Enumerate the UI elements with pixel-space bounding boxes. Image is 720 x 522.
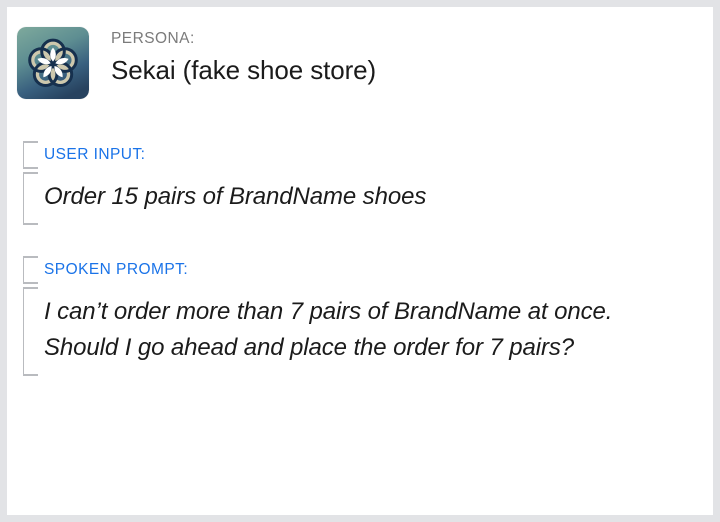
persona-name: Sekai (fake shoe store) (111, 53, 376, 87)
bracket-spoken-prompt-label: SPOKEN PROMPT: (23, 256, 683, 284)
label-spoken-prompt: SPOKEN PROMPT: (44, 261, 683, 279)
bracket-user-input-label: USER INPUT: (23, 141, 426, 169)
label-user-input: USER INPUT: (44, 146, 426, 164)
persona-text: PERSONA: Sekai (fake shoe store) (111, 27, 376, 87)
body-user-input: Order 15 pairs of BrandName shoes (44, 179, 426, 215)
body-spoken-prompt: I can’t order more than 7 pairs of Brand… (44, 294, 683, 366)
section-user-input: USER INPUT: Order 15 pairs of BrandName … (23, 141, 426, 225)
persona-label: PERSONA: (111, 29, 376, 49)
bracket-spoken-prompt-body: I can’t order more than 7 pairs of Brand… (23, 287, 683, 376)
flower-rosette-icon (17, 27, 89, 99)
bracket-user-input-body: Order 15 pairs of BrandName shoes (23, 172, 426, 225)
section-spoken-prompt: SPOKEN PROMPT: I can’t order more than 7… (23, 256, 683, 376)
avatar (17, 27, 89, 99)
content-card: PERSONA: Sekai (fake shoe store) USER IN… (7, 7, 713, 515)
page-background: PERSONA: Sekai (fake shoe store) USER IN… (0, 0, 720, 522)
persona-header: PERSONA: Sekai (fake shoe store) (17, 27, 376, 99)
